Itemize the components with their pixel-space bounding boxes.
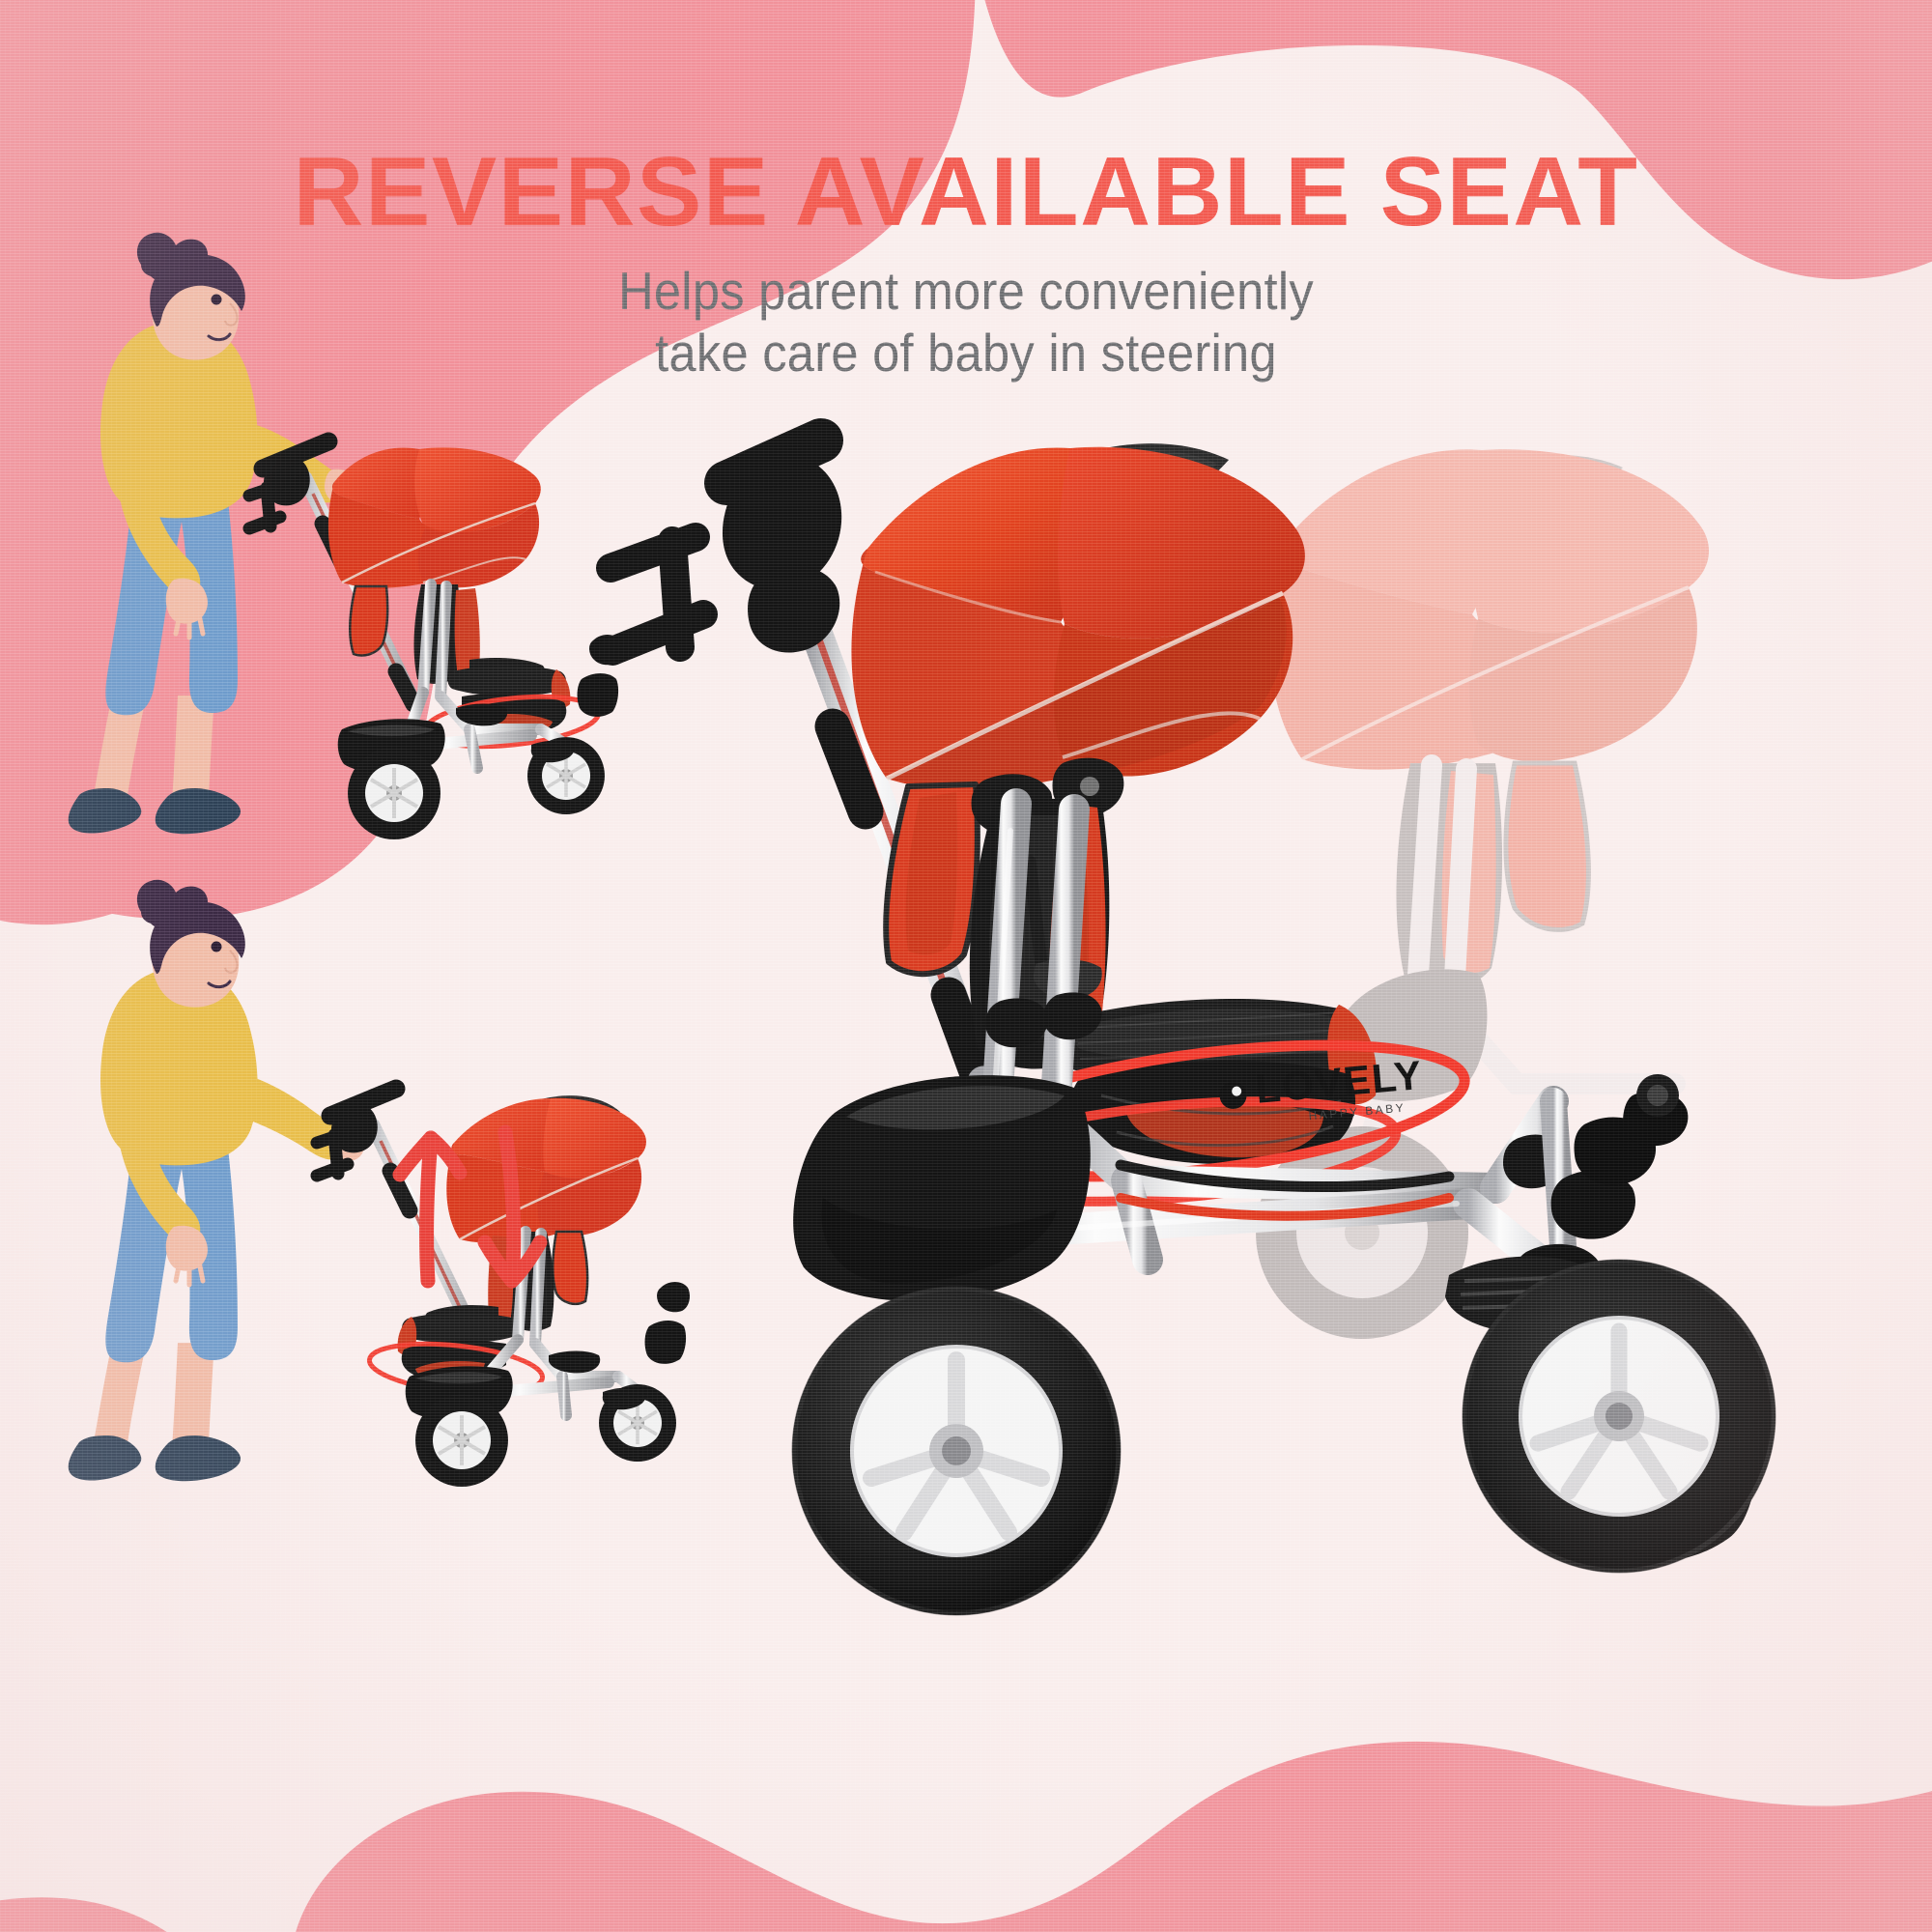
blob-bottom-left	[0, 1897, 193, 1932]
page-subtitle: Helps parent more conveniently take care…	[77, 260, 1855, 384]
page-title: REVERSE AVAILABLE SEAT	[0, 143, 1932, 242]
hero-frame-crank-stay	[1126, 1180, 1148, 1260]
tricycle2-armbar	[402, 1313, 521, 1344]
seat-rotation-arrows	[384, 1119, 568, 1288]
walking-woman-illustration-bottom	[58, 906, 348, 1505]
hero-handle-bracket	[611, 537, 703, 651]
tricycle1-rear-wheel	[348, 747, 440, 839]
hero-front-wheel	[792, 1287, 1121, 1615]
tricycle-hero: LOVELY HAPPY BABY	[580, 425, 1932, 1806]
woman2-front-shoe	[156, 1435, 241, 1481]
hero-frame-seat-post-right	[1055, 810, 1074, 1115]
tricycle2-rear-wheel	[415, 1394, 508, 1487]
arrow-up-icon	[427, 1140, 431, 1281]
subtitle-line-1: Helps parent more conveniently	[77, 260, 1855, 322]
hero-rear-wheel	[1463, 1260, 1776, 1573]
tricycle1-armbar	[448, 666, 567, 696]
tricycle2-bracket	[317, 1133, 348, 1176]
arrow-down-icon	[505, 1132, 514, 1279]
woman-front-shoe	[156, 788, 241, 834]
banner-canvas: REVERSE AVAILABLE SEAT Helps parent more…	[0, 0, 1932, 1932]
tricycle1-canopy-flap	[350, 586, 387, 656]
woman2-back-shoe	[69, 1435, 142, 1481]
hero-storage-basket	[793, 1075, 1091, 1301]
woman2-eye	[212, 942, 222, 952]
tricycle1-bracket	[249, 486, 280, 528]
subtitle-line-2: take care of baby in steering	[77, 322, 1855, 384]
woman-back-shoe	[69, 788, 142, 834]
header-block: REVERSE AVAILABLE SEAT Helps parent more…	[0, 143, 1932, 384]
